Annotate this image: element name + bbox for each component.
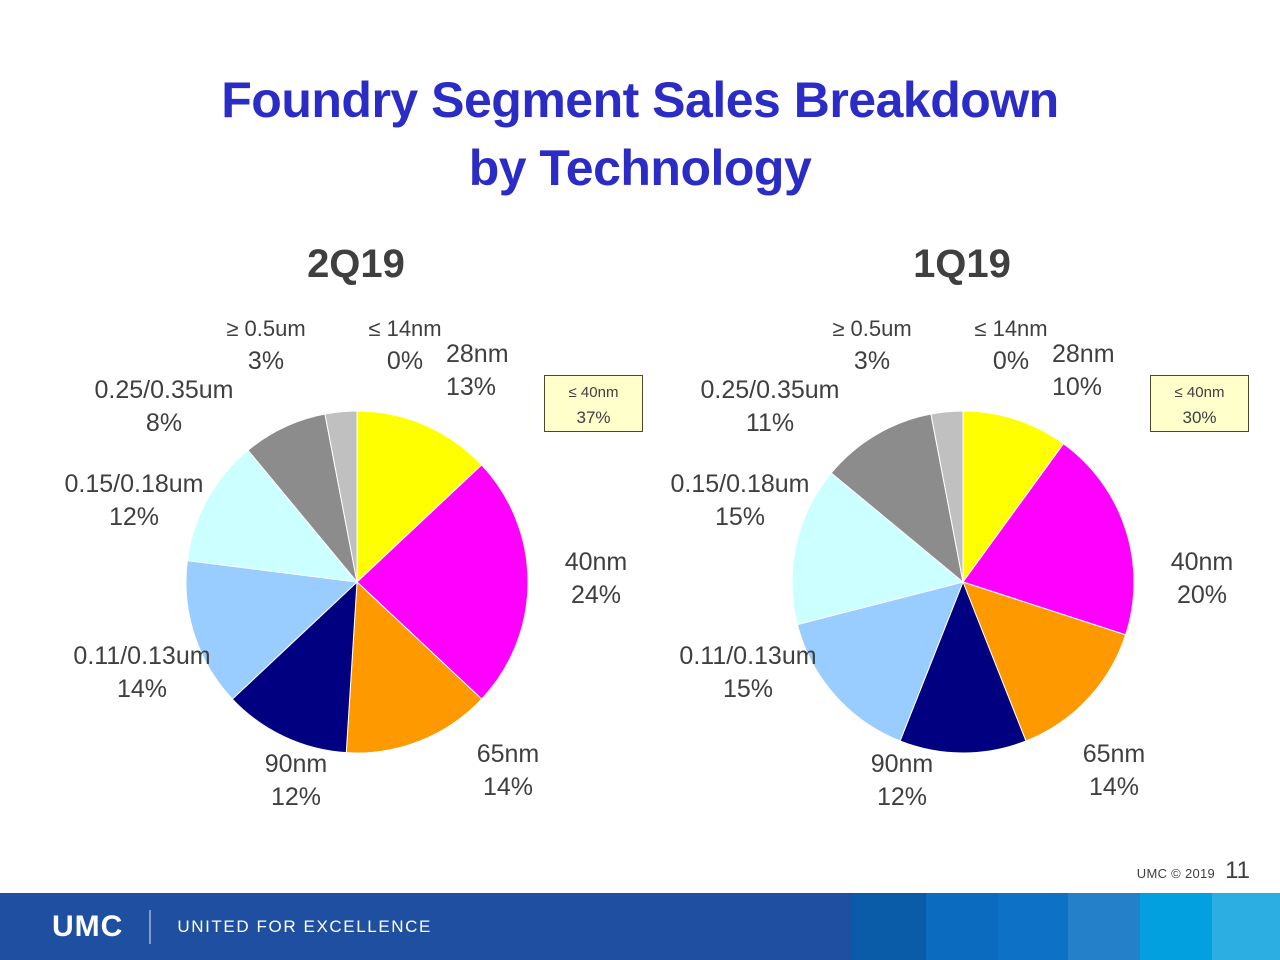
label-65nm-title-2q19: 65nm bbox=[428, 738, 588, 771]
top-accent-bar bbox=[0, 0, 1280, 13]
label-65nm-1q19: 65nm 14% bbox=[1034, 738, 1194, 804]
label-0.25-0.35um-2q19: 0.25/0.35um 8% bbox=[64, 374, 264, 440]
slide-title: Foundry Segment Sales Breakdown by Techn… bbox=[0, 66, 1280, 202]
label-0.15-0.18um-1q19: 0.15/0.18um 15% bbox=[630, 468, 850, 534]
callout-pct-1q19: 30% bbox=[1151, 405, 1248, 430]
accent-segment-teal bbox=[0, 0, 425, 13]
label-ge-0.5um-2q19: ≥ 0.5um 3% bbox=[196, 312, 336, 378]
label-90nm-1q19: 90nm 12% bbox=[822, 748, 982, 814]
label-ge-0.5um-title-2q19: ≥ 0.5um bbox=[196, 312, 336, 345]
label-0.11-0.13um-1q19: 0.11/0.13um 15% bbox=[638, 640, 858, 706]
label-90nm-pct-1q19: 12% bbox=[822, 781, 982, 814]
label-28nm-title-2q19: 28nm bbox=[446, 338, 566, 371]
label-0.15-0.18um-title-1q19: 0.15/0.18um bbox=[630, 468, 850, 501]
label-0.25-0.35um-pct-2q19: 8% bbox=[64, 407, 264, 440]
callout-le-40nm-2q19: ≤ 40nm 37% bbox=[544, 375, 643, 432]
label-90nm-2q19: 90nm 12% bbox=[216, 748, 376, 814]
label-0.11-0.13um-title-2q19: 0.11/0.13um bbox=[32, 640, 252, 673]
chart-panel-2q19: 2Q19 ≥ 0.5um 3% ≤ 14nm 0% 28nm 13% 0.25/… bbox=[46, 240, 666, 840]
chart-heading-1q19: 1Q19 bbox=[652, 240, 1272, 288]
accent-segment-yellow bbox=[852, 0, 1280, 13]
brand-block-3 bbox=[998, 893, 1068, 960]
label-0.11-0.13um-title-1q19: 0.11/0.13um bbox=[638, 640, 858, 673]
slide-title-line-1: Foundry Segment Sales Breakdown bbox=[0, 66, 1280, 134]
label-90nm-title-2q19: 90nm bbox=[216, 748, 376, 781]
chart-heading-2q19: 2Q19 bbox=[46, 240, 666, 288]
label-0.11-0.13um-2q19: 0.11/0.13um 14% bbox=[32, 640, 252, 706]
label-0.15-0.18um-2q19: 0.15/0.18um 12% bbox=[24, 468, 244, 534]
label-0.25-0.35um-title-1q19: 0.25/0.35um bbox=[670, 374, 870, 407]
label-40nm-title-1q19: 40nm bbox=[1132, 546, 1272, 579]
label-40nm-1q19: 40nm 20% bbox=[1132, 546, 1272, 612]
brand-block-2 bbox=[926, 893, 998, 960]
label-65nm-2q19: 65nm 14% bbox=[428, 738, 588, 804]
label-90nm-pct-2q19: 12% bbox=[216, 781, 376, 814]
label-ge-0.5um-title-1q19: ≥ 0.5um bbox=[802, 312, 942, 345]
copyright-text: UMC © 2019 bbox=[1137, 866, 1215, 881]
label-65nm-pct-2q19: 14% bbox=[428, 771, 588, 804]
brand-block-6 bbox=[1212, 893, 1280, 960]
label-0.25-0.35um-title-2q19: 0.25/0.35um bbox=[64, 374, 264, 407]
label-40nm-pct-2q19: 24% bbox=[526, 579, 666, 612]
label-0.15-0.18um-pct-2q19: 12% bbox=[24, 501, 244, 534]
chart-panel-1q19: 1Q19 ≥ 0.5um 3% ≤ 14nm 0% 28nm 10% 0.25/… bbox=[652, 240, 1272, 840]
accent-segment-cyan bbox=[425, 0, 852, 13]
label-0.11-0.13um-pct-1q19: 15% bbox=[638, 673, 858, 706]
label-40nm-title-2q19: 40nm bbox=[526, 546, 666, 579]
brand-divider bbox=[149, 910, 151, 944]
label-65nm-title-1q19: 65nm bbox=[1034, 738, 1194, 771]
callout-title-1q19: ≤ 40nm bbox=[1151, 380, 1248, 405]
label-ge-0.5um-1q19: ≥ 0.5um 3% bbox=[802, 312, 942, 378]
label-28nm-title-1q19: 28nm bbox=[1052, 338, 1172, 371]
callout-title-2q19: ≤ 40nm bbox=[545, 380, 642, 405]
label-65nm-pct-1q19: 14% bbox=[1034, 771, 1194, 804]
label-40nm-pct-1q19: 20% bbox=[1132, 579, 1272, 612]
page-number: 11 bbox=[1225, 857, 1250, 885]
page-credit: UMC © 2019 11 bbox=[1137, 857, 1250, 885]
brand-block-5 bbox=[1140, 893, 1212, 960]
brand-tagline: UNITED FOR EXCELLENCE bbox=[177, 917, 432, 937]
label-0.11-0.13um-pct-2q19: 14% bbox=[32, 673, 252, 706]
brand-block-1 bbox=[852, 893, 926, 960]
callout-le-40nm-1q19: ≤ 40nm 30% bbox=[1150, 375, 1249, 432]
label-0.15-0.18um-title-2q19: 0.15/0.18um bbox=[24, 468, 244, 501]
label-90nm-title-1q19: 90nm bbox=[822, 748, 982, 781]
brand-block-4 bbox=[1068, 893, 1140, 960]
label-0.15-0.18um-pct-1q19: 15% bbox=[630, 501, 850, 534]
brand-footer-bar: UMC UNITED FOR EXCELLENCE bbox=[0, 893, 1280, 960]
label-40nm-2q19: 40nm 24% bbox=[526, 546, 666, 612]
slide-title-line-2: by Technology bbox=[0, 134, 1280, 202]
label-0.25-0.35um-1q19: 0.25/0.35um 11% bbox=[670, 374, 870, 440]
brand-main-block: UMC UNITED FOR EXCELLENCE bbox=[0, 893, 852, 960]
label-0.25-0.35um-pct-1q19: 11% bbox=[670, 407, 870, 440]
umc-logo: UMC bbox=[52, 910, 123, 944]
callout-pct-2q19: 37% bbox=[545, 405, 642, 430]
